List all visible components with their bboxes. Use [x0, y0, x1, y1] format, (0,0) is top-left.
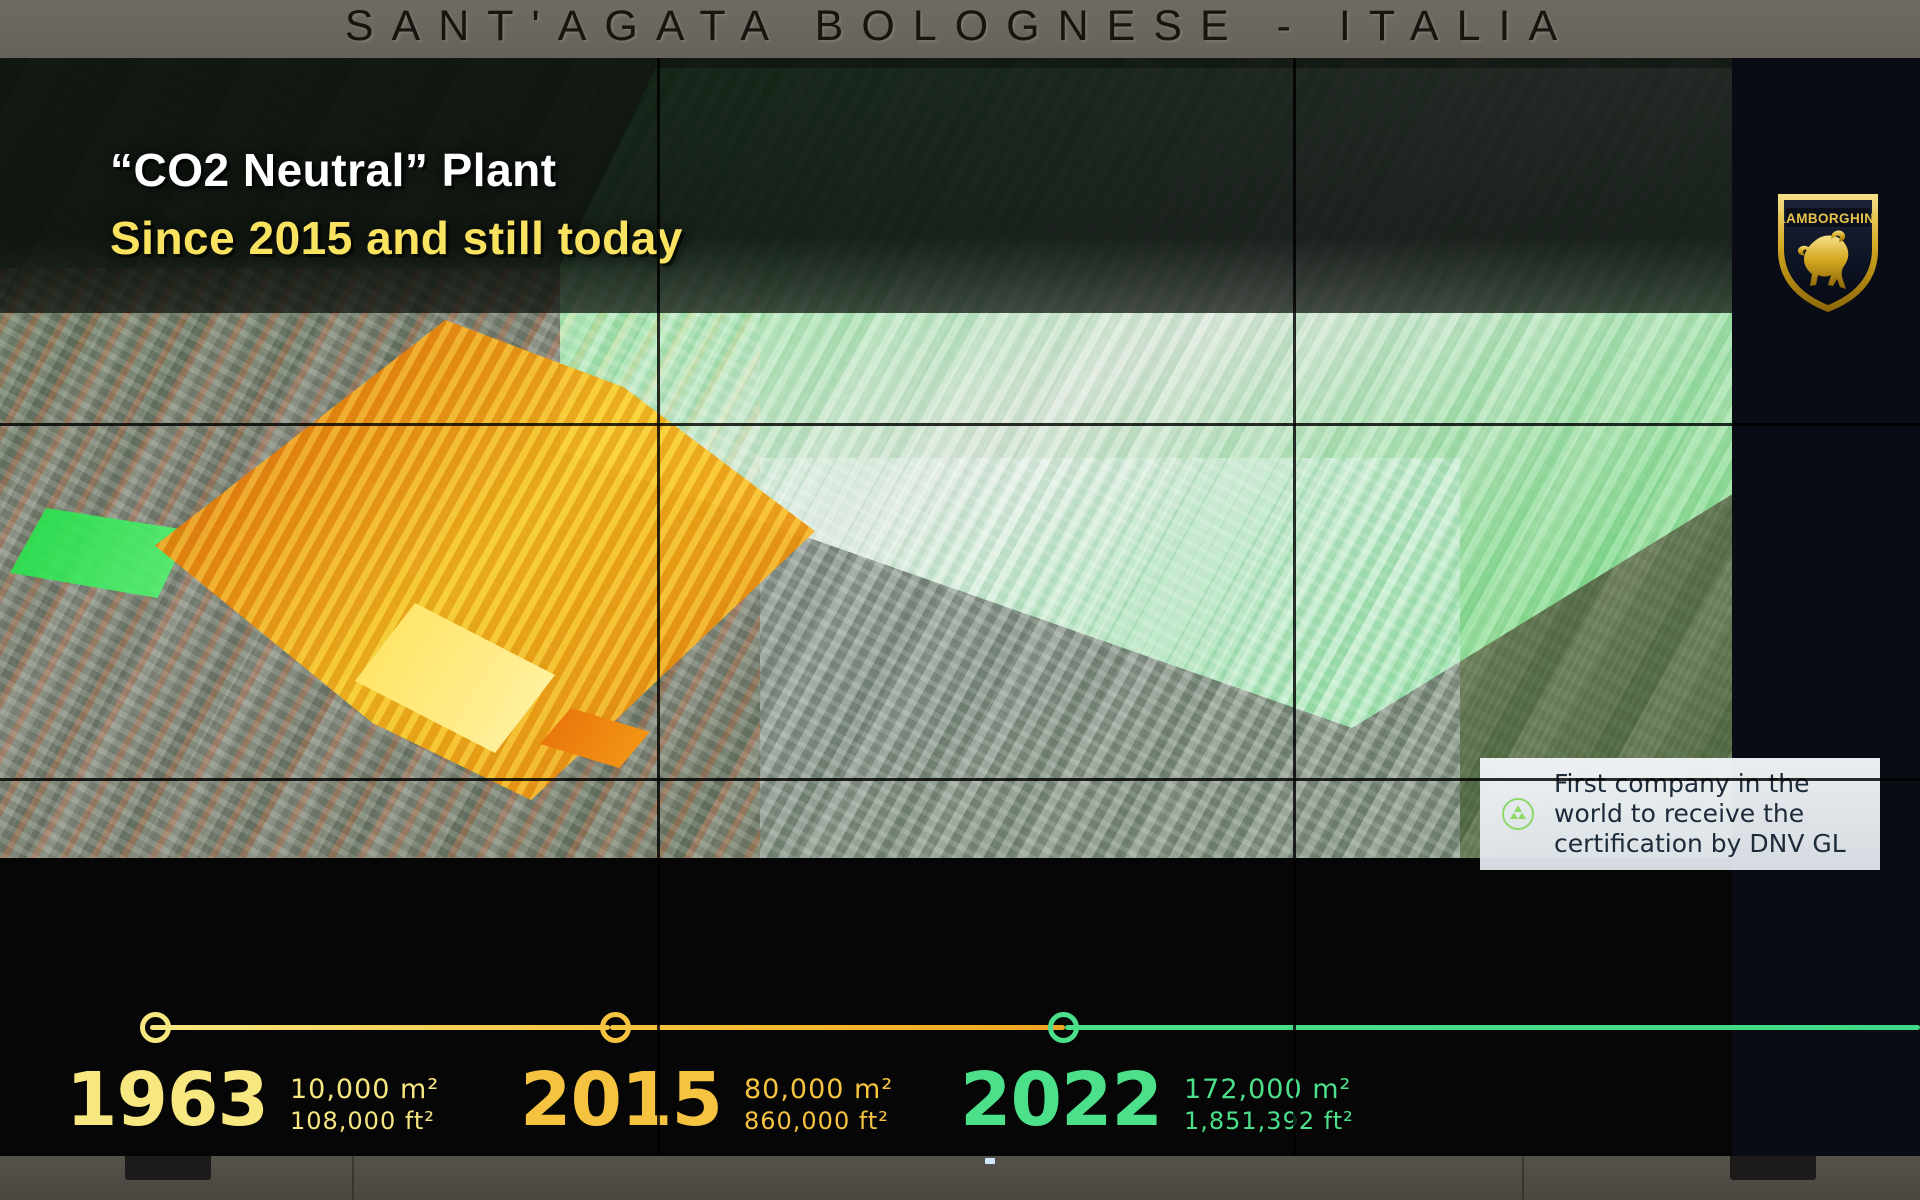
timeline-area-imperial-2022: 1,851,392 ft² [1184, 1106, 1354, 1136]
timeline-labels: 1963 10,000 m² 108,000 ft² 2015 80,000 m… [0, 1063, 1920, 1156]
timeline-areas-1963: 10,000 m² 108,000 ft² [290, 1073, 439, 1136]
certification-callout-text: First company in the world to receive th… [1554, 769, 1880, 859]
wall-seam-left [352, 1156, 354, 1200]
wall-header-band: SANT'AGATA BOLOGNESE - ITALIA [0, 0, 1920, 58]
svg-text:LAMBORGHINI: LAMBORGHINI [1777, 211, 1878, 226]
timeline-area-imperial-2015: 860,000 ft² [744, 1106, 893, 1136]
page-title: “CO2 Neutral” Plant [110, 143, 683, 197]
timeline-item-2015: 2015 80,000 m² 860,000 ft² [520, 1063, 893, 1137]
timeline-node-2022[interactable] [1048, 1012, 1079, 1043]
screen-mount-left [125, 1156, 211, 1180]
video-wall-screen: “CO2 Neutral” Plant Since 2015 and still… [0, 58, 1920, 1156]
timeline-year-1963: 1963 [66, 1063, 268, 1137]
video-wall-bezel-horizontal-2 [0, 778, 1920, 781]
timeline-area-imperial-1963: 108,000 ft² [290, 1106, 439, 1136]
certification-callout: First company in the world to receive th… [1480, 758, 1880, 870]
timeline-area-metric-1963: 10,000 m² [290, 1073, 439, 1106]
wall-below-screen [0, 1156, 1920, 1200]
timeline-track [0, 998, 1920, 1058]
timeline-area-metric-2022: 172,000 m² [1184, 1073, 1354, 1106]
timeline-year-2022: 2022 [960, 1063, 1162, 1137]
recycle-icon [1498, 797, 1538, 831]
timeline-areas-2015: 80,000 m² 860,000 ft² [744, 1073, 893, 1136]
video-wall-bezel-vertical-1 [657, 58, 660, 1156]
video-wall-bezel-vertical-2 [1293, 58, 1296, 1156]
timeline-node-1963[interactable] [140, 1012, 171, 1043]
timeline-year-2015: 2015 [520, 1063, 722, 1137]
screen-power-led [985, 1158, 995, 1164]
timeline-item-1963: 1963 10,000 m² 108,000 ft² [66, 1063, 439, 1137]
screen-mount-right [1730, 1156, 1816, 1180]
wall-header-text: SANT'AGATA BOLOGNESE - ITALIA [0, 2, 1920, 51]
lamborghini-shield-bull-icon: LAMBORGHINI [1772, 188, 1884, 316]
wall-seam-right [1522, 1156, 1524, 1200]
page-subtitle: Since 2015 and still today [110, 211, 683, 265]
lamborghini-logo: LAMBORGHINI [1772, 188, 1884, 316]
timeline-node-2015[interactable] [600, 1012, 631, 1043]
video-wall-bezel-horizontal-1 [0, 423, 1920, 426]
timeline-segment-1963-2015 [150, 1025, 610, 1030]
timeline-area-metric-2015: 80,000 m² [744, 1073, 893, 1106]
timeline-segment-2015-2022 [610, 1025, 1065, 1030]
timeline-areas-2022: 172,000 m² 1,851,392 ft² [1184, 1073, 1354, 1136]
screenshot-root: SANT'AGATA BOLOGNESE - ITALIA “CO2 Neutr… [0, 0, 1920, 1200]
slide-title-block: “CO2 Neutral” Plant Since 2015 and still… [110, 143, 683, 265]
timeline-segment-2022-end [1065, 1025, 1920, 1030]
